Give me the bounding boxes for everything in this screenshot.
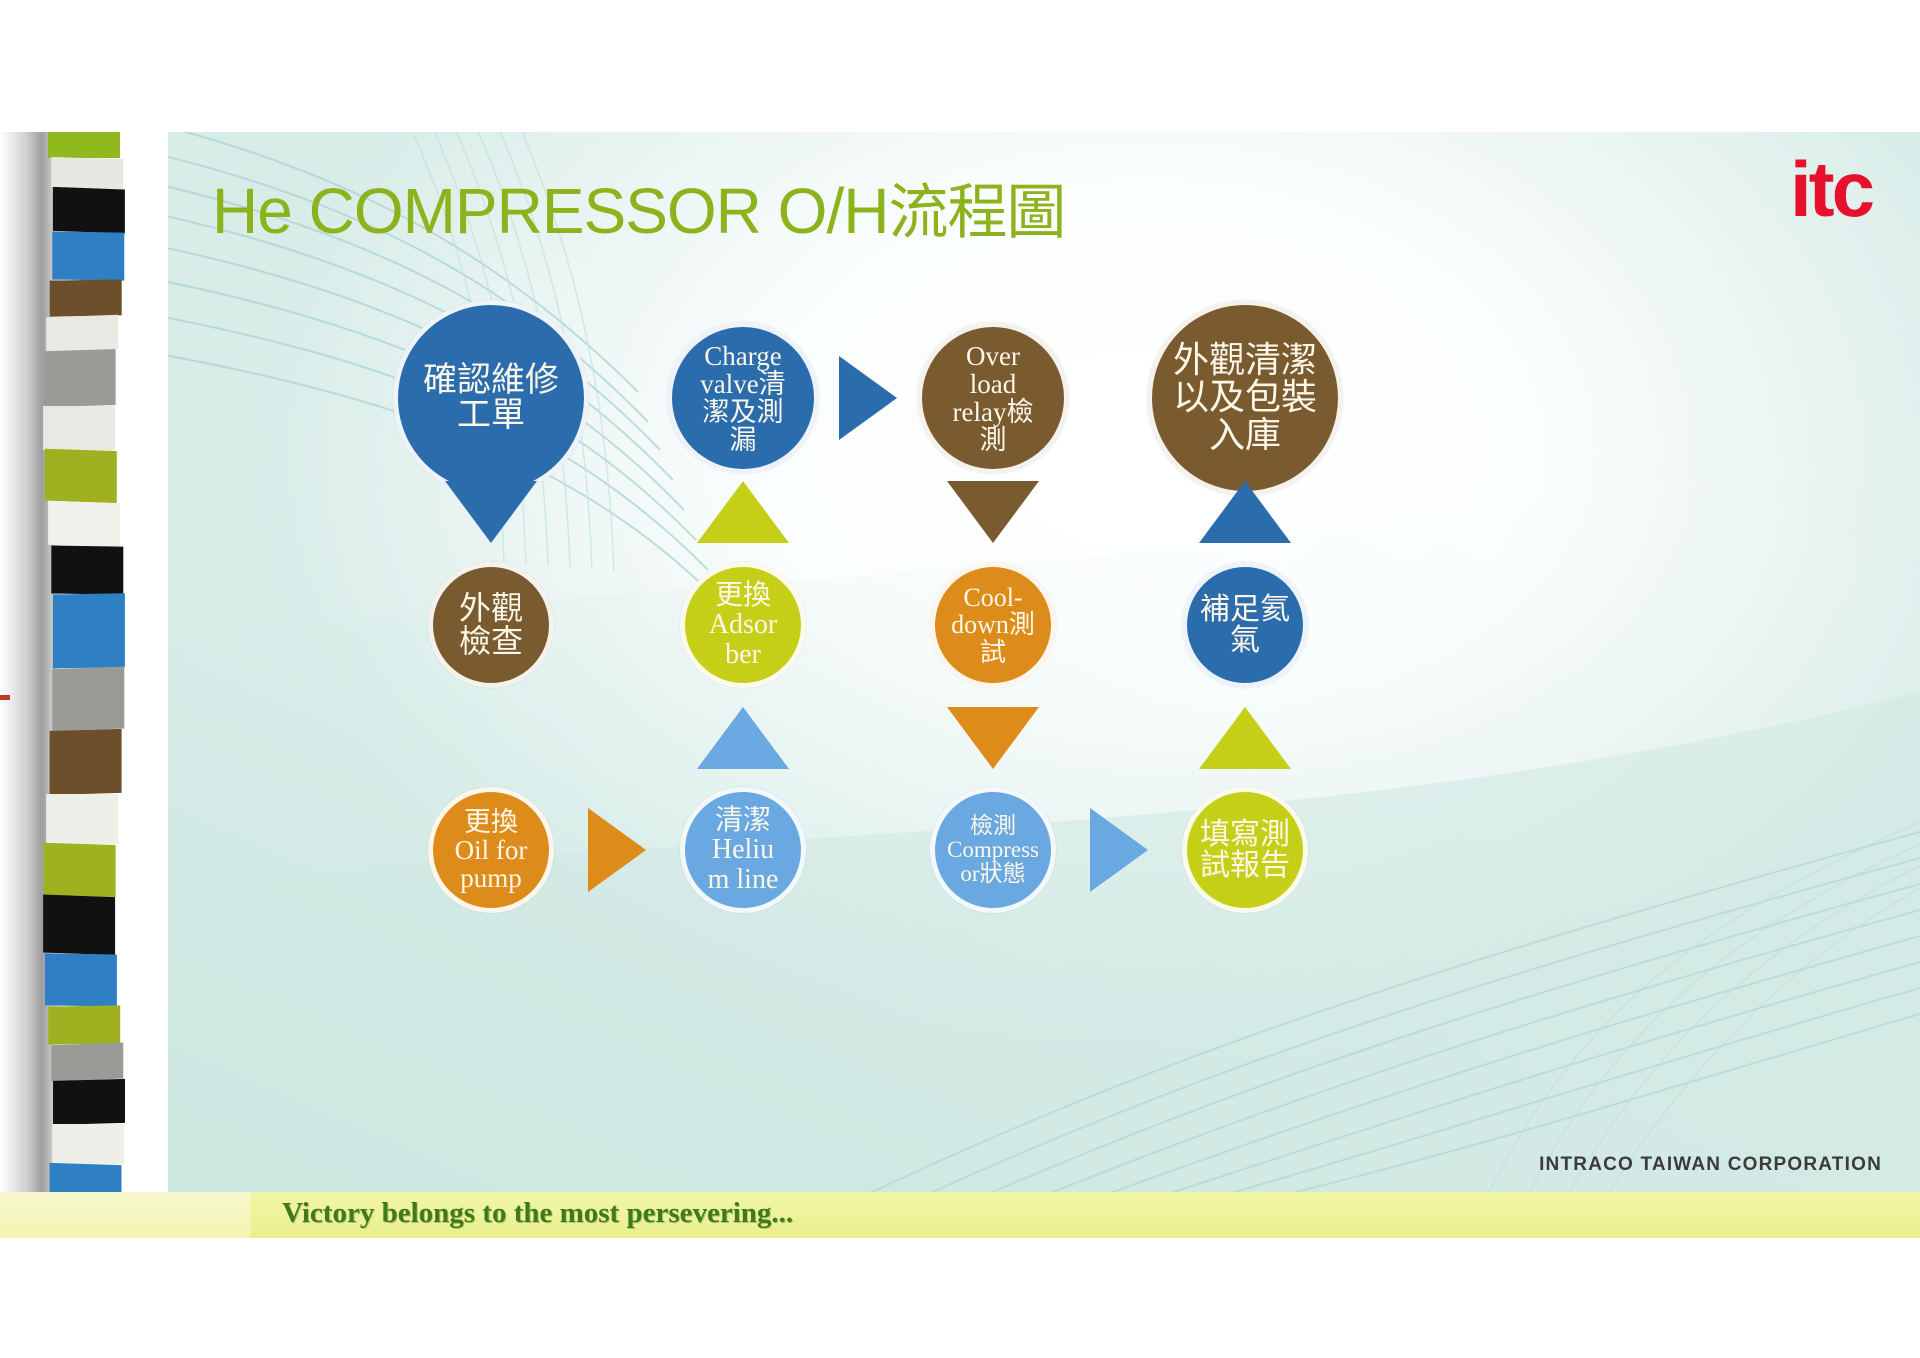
strip-band (50, 1163, 122, 1194)
flow-node[interactable]: 清潔Helium line (680, 787, 806, 913)
flow-node-label: 更換Adsorber (703, 581, 783, 668)
flow-arrow-right (839, 356, 897, 440)
flow-node-label: 外觀檢查 (453, 592, 529, 659)
flow-arrow-down (947, 481, 1039, 543)
strip-band (43, 406, 115, 450)
strip-band (52, 1124, 124, 1164)
strip-red-tick (0, 695, 10, 700)
flow-node[interactable]: 更換Oil forpump (428, 787, 554, 913)
flow-arrow-down (947, 707, 1039, 769)
flow-node[interactable]: Chargevalve清潔及測漏 (667, 322, 819, 474)
flow-node[interactable]: 補足氦氣 (1182, 562, 1308, 688)
flow-node-label: Overloadrelay檢測 (947, 342, 1040, 454)
decorative-photo-strip (0, 132, 168, 1194)
strip-band (45, 953, 117, 1006)
flow-node-label: 清潔Helium line (702, 806, 785, 893)
strip-band (50, 279, 122, 316)
strip-band (44, 843, 116, 897)
strip-band (53, 593, 125, 668)
flow-node-label: 補足氦氣 (1194, 594, 1296, 656)
strip-band (53, 1079, 125, 1125)
strip-band (45, 449, 117, 503)
itc-logo: itc (1790, 150, 1872, 228)
flow-node-label: Chargevalve清潔及測漏 (694, 342, 791, 454)
flow-arrow-right (1090, 808, 1148, 892)
strip-band (46, 315, 118, 352)
strip-color-bands (48, 132, 120, 1194)
flow-node[interactable]: Cool-down測試 (930, 562, 1056, 688)
page-title: He COMPRESSOR O/H流程圖 (212, 164, 1065, 251)
company-footer: INTRACO TAIWAN CORPORATION (1539, 1154, 1882, 1176)
strip-band (48, 1005, 120, 1044)
flow-node[interactable]: Overloadrelay檢測 (917, 322, 1069, 474)
flow-node-label: 填寫測試報告 (1194, 819, 1296, 881)
flow-node-label: 檢測Compressor狀態 (941, 814, 1045, 886)
flow-arrow-up (697, 707, 789, 769)
strip-band (52, 231, 124, 280)
flow-node[interactable]: 外觀檢查 (428, 562, 554, 688)
flow-arrow-down (445, 481, 537, 543)
strip-band (51, 545, 123, 594)
page-title-latin: He COMPRESSOR O/H (212, 175, 888, 247)
flow-node[interactable]: 確認維修工單 (393, 300, 589, 496)
page-title-cjk: 流程圖 (888, 178, 1065, 248)
flow-arrow-up (697, 481, 789, 543)
strip-band (48, 132, 120, 158)
flow-node-label: Cool-down測試 (945, 584, 1041, 665)
strip-band (48, 501, 120, 548)
strip-band (43, 894, 115, 955)
slide-canvas: He COMPRESSOR O/H流程圖 itc 確認維修工單Chargeval… (168, 132, 1920, 1194)
flow-node[interactable]: 更換Adsorber (680, 562, 806, 688)
flow-node-label: 外觀清潔以及包裝入庫 (1167, 342, 1323, 454)
flow-node[interactable]: 檢測Compressor狀態 (930, 787, 1056, 913)
flow-node[interactable]: 填寫測試報告 (1182, 787, 1308, 913)
band-left-cap (0, 1192, 250, 1238)
strip-band (52, 666, 124, 731)
strip-band (44, 349, 116, 407)
strip-band (51, 157, 123, 189)
strip-band (50, 729, 122, 795)
flow-node[interactable]: 外觀清潔以及包裝入庫 (1147, 300, 1343, 496)
strip-band (46, 794, 118, 844)
tagline: Victory belongs to the most persevering.… (282, 1197, 793, 1230)
background-swoosh (168, 132, 1920, 1194)
flow-node-label: 確認維修工單 (417, 363, 565, 434)
flow-node-label: 更換Oil forpump (449, 808, 534, 892)
strip-band (51, 1043, 123, 1082)
flow-arrow-up (1199, 707, 1291, 769)
strip-band (53, 187, 125, 234)
flow-arrow-up (1199, 481, 1291, 543)
bottom-white-margin (0, 1238, 1920, 1358)
flow-arrow-right (588, 808, 646, 892)
